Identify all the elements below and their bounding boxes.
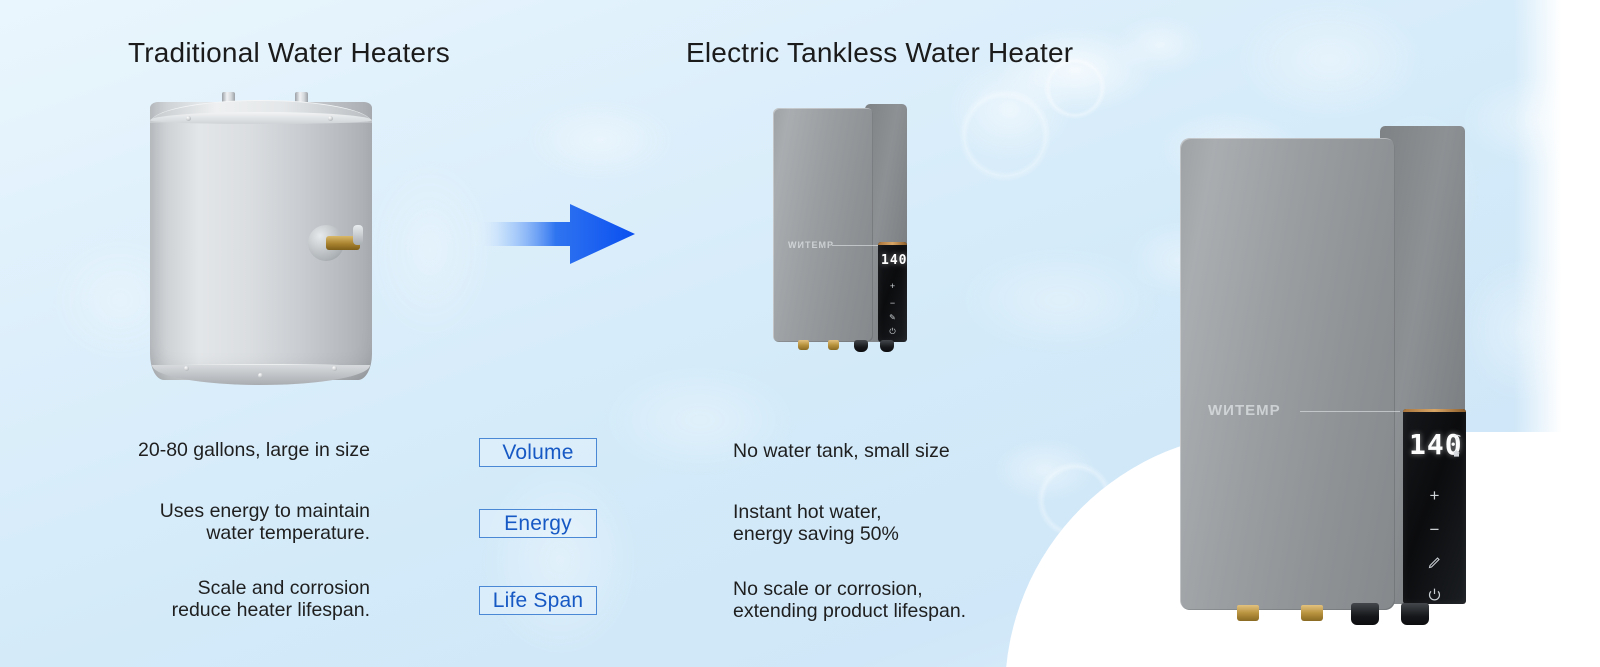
home-icon [1452, 449, 1461, 458]
control-panel: 140 + − ✎ ⏻ [878, 242, 907, 342]
copper-trim [1403, 409, 1466, 412]
temperature-display: 140 [881, 254, 907, 267]
right-feature-volume: No water tank, small size [733, 441, 1063, 463]
page-title-traditional: Traditional Water Heaters [128, 37, 450, 69]
page-title-tankless: Electric Tankless Water Heater [686, 37, 1073, 69]
brand-logo: WИTEMP [788, 240, 834, 250]
valve-handle [353, 225, 363, 245]
tankless-water-heater-small: WИTEMP 140 + − ✎ ⏻ [770, 100, 920, 350]
water-outlet-fitting [828, 340, 839, 350]
copper-trim [878, 242, 907, 245]
cable-port [880, 340, 894, 352]
cable-port [1401, 603, 1429, 625]
text-line: energy saving 50% [733, 524, 1063, 546]
traditional-water-heater-image [150, 92, 372, 385]
text-line: Scale and corrosion [60, 578, 370, 600]
screw-icon [186, 116, 191, 121]
comparison-label-lifespan: Life Span [479, 586, 597, 615]
brand-divider [1300, 411, 1400, 412]
water-outlet-fitting [1301, 605, 1323, 621]
text-line: No water tank, small size [733, 441, 1063, 463]
unit-front-panel [1180, 138, 1395, 610]
power-button[interactable] [1427, 587, 1442, 602]
left-feature-lifespan: Scale and corrosion reduce heater lifesp… [60, 578, 370, 622]
power-button[interactable]: ⏻ [878, 328, 907, 336]
comparison-label-volume: Volume [479, 438, 597, 467]
water-inlet-fitting [1237, 605, 1259, 621]
right-feature-lifespan: No scale or corrosion, extending product… [733, 579, 1063, 623]
left-feature-energy: Uses energy to maintain water temperatur… [60, 501, 370, 545]
right-feature-energy: Instant hot water, energy saving 50% [733, 502, 1063, 546]
mode-button[interactable]: ✎ [878, 314, 907, 322]
brand-divider [832, 245, 880, 246]
text-line: No scale or corrosion, [733, 579, 1063, 601]
text-line: Instant hot water, [733, 502, 1063, 524]
control-panel: 140 + − [1403, 409, 1466, 604]
white-right-fade [1514, 0, 1600, 667]
decrease-temperature-button[interactable]: − [878, 299, 907, 308]
decrease-temperature-button[interactable]: − [1403, 521, 1466, 538]
transition-arrow [470, 196, 635, 272]
text-line: Uses energy to maintain [60, 501, 370, 523]
screw-icon [184, 366, 189, 371]
unit-front-panel [773, 108, 873, 342]
screw-icon [332, 366, 337, 371]
brand-logo: WИTEMP [1208, 402, 1281, 419]
text-line: extending product lifespan. [733, 601, 1063, 623]
mode-button[interactable] [1427, 555, 1442, 570]
cable-port [1351, 603, 1379, 625]
text-line: reduce heater lifespan. [60, 600, 370, 622]
tank-top-band [150, 112, 372, 124]
text-line: 20-80 gallons, large in size [60, 440, 370, 462]
cable-port [854, 340, 868, 352]
text-line: water temperature. [60, 523, 370, 545]
screw-icon [258, 373, 263, 378]
comparison-label-energy: Energy [479, 509, 597, 538]
tankless-water-heater-large: WИTEMP 140 + − [1175, 122, 1475, 614]
wifi-icon [1452, 432, 1462, 441]
left-feature-volume: 20-80 gallons, large in size [60, 440, 370, 462]
comparison-infographic: Traditional Water Heaters Electric Tankl… [0, 0, 1600, 667]
water-inlet-fitting [798, 340, 809, 350]
screw-icon [328, 116, 333, 121]
increase-temperature-button[interactable]: + [878, 282, 907, 291]
increase-temperature-button[interactable]: + [1403, 487, 1466, 504]
